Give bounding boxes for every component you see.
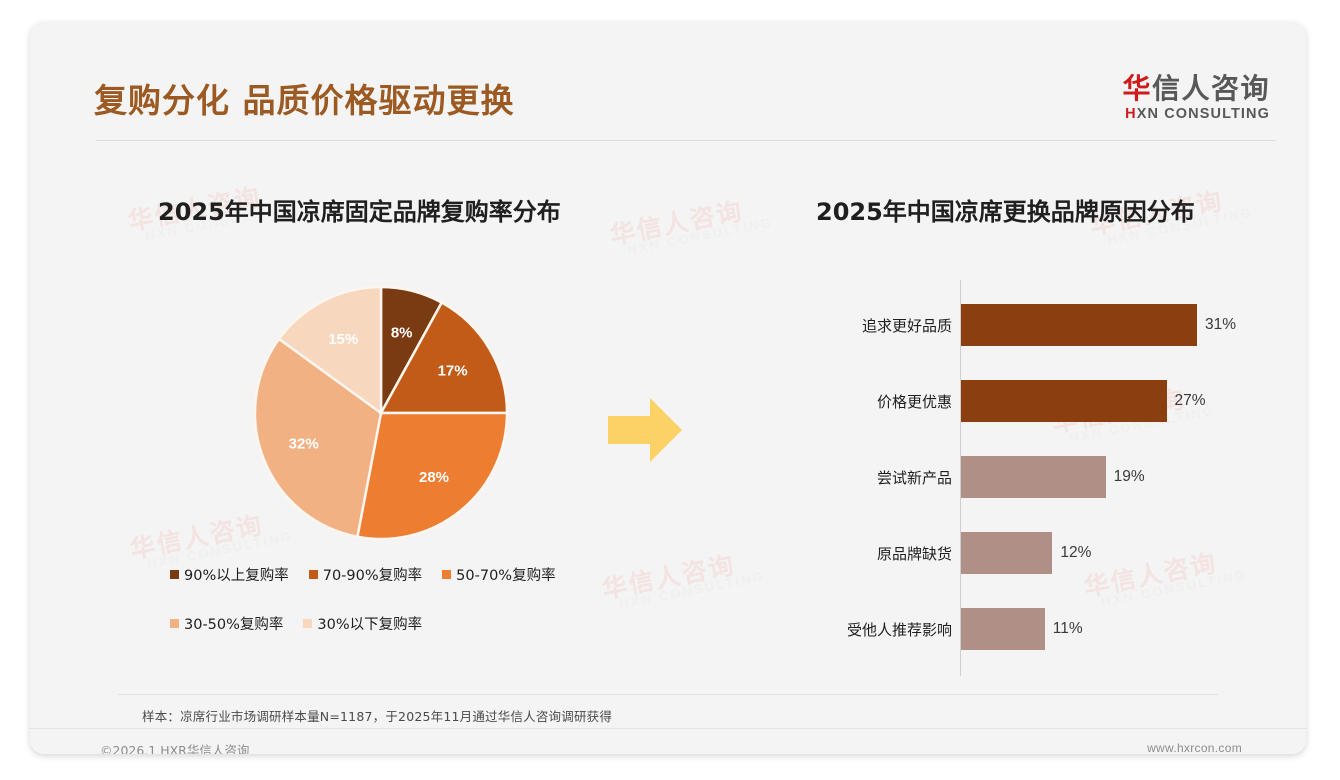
right-arrow-icon — [608, 394, 684, 471]
pie-slice-label: 28% — [419, 469, 449, 486]
logo-cn-accent: 华 — [1122, 72, 1152, 105]
bar-chart-row: 价格更优惠27% — [810, 380, 1280, 422]
bar-chart-row: 原品牌缺货12% — [810, 532, 1280, 574]
watermark: 华信人咨询 HXN CONSULTING — [608, 193, 774, 260]
logo-en-accent: H — [1125, 106, 1137, 122]
legend-label: 70-90%复购率 — [323, 564, 422, 585]
pie-slice-label: 32% — [289, 436, 319, 453]
right-arrow-svg — [608, 394, 684, 466]
logo-cn: 华信人咨询 — [1122, 74, 1270, 103]
company-logo: 华信人咨询 HXN CONSULTING — [1122, 74, 1270, 122]
bar-chart-row: 尝试新产品19% — [810, 456, 1280, 498]
pie-slice-label: 17% — [438, 363, 468, 380]
bar-category-label: 受他人推荐影响 — [810, 619, 961, 640]
bar-fill[interactable] — [961, 608, 1045, 650]
pie-legend-item[interactable]: 30-50%复购率 — [170, 613, 283, 634]
watermark: 华信人咨询 HXN CONSULTING — [600, 547, 766, 614]
watermark-cn: 华信人咨询 — [600, 547, 764, 604]
legend-swatch-icon — [442, 570, 451, 579]
logo-en-rest: XN CONSULTING — [1137, 106, 1270, 122]
logo-en: HXN CONSULTING — [1122, 106, 1270, 122]
bar-fill[interactable] — [961, 304, 1197, 346]
bar-category-label: 原品牌缺货 — [810, 543, 961, 564]
watermark-cn: 华信人咨询 — [608, 193, 772, 250]
legend-label: 90%以上复购率 — [184, 564, 289, 585]
pie-legend-item[interactable]: 90%以上复购率 — [170, 564, 289, 585]
bar-value-label: 31% — [1205, 316, 1236, 334]
slide-card: 华信人咨询 HXN CONSULTING 华信人咨询 HXN CONSULTIN… — [30, 22, 1306, 754]
bar-fill[interactable] — [961, 456, 1106, 498]
header-divider — [96, 140, 1276, 141]
pie-legend-item[interactable]: 50-70%复购率 — [442, 564, 555, 585]
legend-swatch-icon — [170, 570, 179, 579]
bar-category-label: 尝试新产品 — [810, 467, 961, 488]
watermark-cn-text: 华信人咨询 — [128, 510, 266, 564]
pie-slice-group — [255, 287, 507, 539]
pie-legend-item[interactable]: 30%以下复购率 — [303, 613, 422, 634]
arrow-shape — [608, 398, 682, 462]
footnote-divider — [118, 694, 1218, 695]
right-chart-title: 2025年中国凉席更换品牌原因分布 — [816, 192, 1195, 227]
watermark-en: HXN CONSULTING — [626, 216, 774, 258]
bar-chart-row: 受他人推荐影响11% — [810, 608, 1280, 650]
slide-root: 华信人咨询 HXN CONSULTING 华信人咨询 HXN CONSULTIN… — [0, 0, 1340, 780]
pie-legend-row: 30-50%复购率30%以下复购率 — [170, 613, 600, 634]
bar-value-label: 19% — [1114, 468, 1145, 486]
pie-legend-item[interactable]: 70-90%复购率 — [309, 564, 422, 585]
bar-value-label: 12% — [1060, 544, 1091, 562]
watermark-cn-text: 华信人咨询 — [600, 550, 738, 604]
pie-chart-svg: 8%17%28%32%15% — [252, 284, 510, 542]
bar-category-label: 价格更优惠 — [810, 391, 961, 412]
bar-chart: 追求更好品质31%价格更优惠27%尝试新产品19%原品牌缺货12%受他人推荐影响… — [810, 280, 1280, 680]
bar-fill[interactable] — [961, 532, 1052, 574]
bar-category-label: 追求更好品质 — [810, 315, 961, 336]
legend-swatch-icon — [303, 619, 312, 628]
pie-chart: 8%17%28%32%15% — [252, 284, 510, 542]
logo-cn-rest: 信人咨询 — [1152, 72, 1270, 105]
footnote: 样本：凉席行业市场调研样本量N=1187，于2025年11月通过华信人咨询调研获… — [142, 706, 612, 725]
bar-value-label: 11% — [1053, 620, 1083, 638]
footer-website: www.hxrcon.com — [1147, 741, 1242, 754]
bar-value-label: 27% — [1175, 392, 1206, 410]
footer-copyright: ©2026.1 HXR华信人咨询 — [100, 740, 249, 754]
legend-swatch-icon — [170, 619, 179, 628]
pie-legend-row: 90%以上复购率70-90%复购率50-70%复购率 — [170, 564, 600, 585]
bar-fill[interactable] — [961, 380, 1167, 422]
legend-label: 30-50%复购率 — [184, 613, 283, 634]
watermark-cn-text: 华信人咨询 — [608, 196, 746, 250]
watermark-en: HXN CONSULTING — [618, 570, 766, 612]
legend-label: 50-70%复购率 — [456, 564, 555, 585]
bar-chart-row: 追求更好品质31% — [810, 304, 1280, 346]
page-title: 复购分化 品质价格驱动更换 — [94, 74, 515, 122]
legend-label: 30%以下复购率 — [317, 613, 422, 634]
pie-slice-label: 15% — [328, 331, 358, 348]
pie-legend: 90%以上复购率70-90%复购率50-70%复购率 30-50%复购率30%以… — [170, 564, 600, 634]
pie-slice-label: 8% — [391, 324, 413, 341]
legend-swatch-icon — [309, 570, 318, 579]
left-chart-title: 2025年中国凉席固定品牌复购率分布 — [158, 192, 561, 227]
